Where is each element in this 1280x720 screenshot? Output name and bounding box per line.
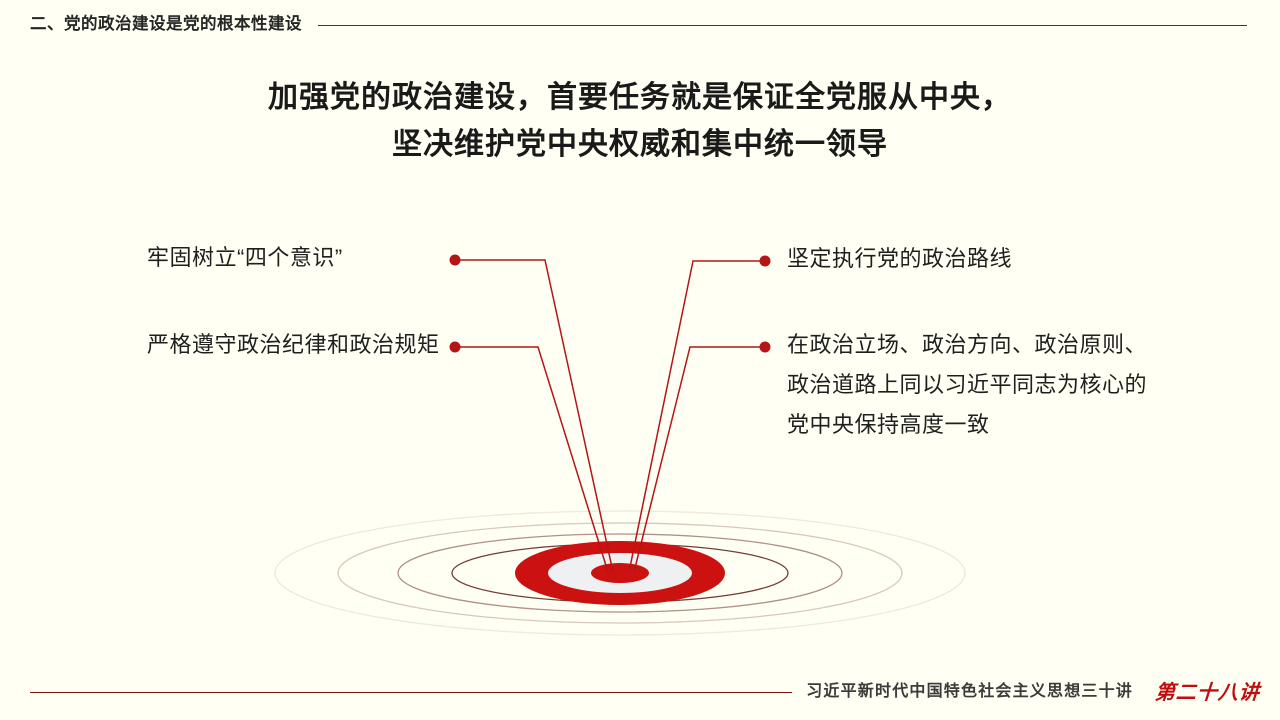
slide-root: 二、党的政治建设是党的根本性建设 加强党的政治建设，首要任务就是保证全党服从中央… (0, 0, 1280, 720)
connector-lines (455, 260, 765, 572)
bullseye-target (515, 541, 725, 605)
slide-header: 二、党的政治建设是党的根本性建设 (30, 11, 1247, 37)
connector-left-2 (455, 347, 608, 572)
footer-book-title: 习近平新时代中国特色社会主义思想三十讲 (806, 684, 1133, 700)
bullet-dot-left-1 (450, 255, 461, 266)
bullet-dot-right-2 (760, 342, 771, 353)
page-title-line-1: 加强党的政治建设，首要任务就是保证全党服从中央， (0, 74, 1280, 121)
section-label: 二、党的政治建设是党的根本性建设 (30, 16, 302, 33)
ripple-ring-4 (275, 511, 965, 635)
footer-divider-line (30, 692, 792, 693)
ripple-ring-3 (338, 523, 902, 623)
bullseye-outer-ring (515, 541, 725, 605)
bullseye-inner-gap (548, 553, 692, 593)
connector-left-1 (455, 260, 613, 572)
bullseye-center-dot (591, 563, 649, 583)
callout-label-right-2: 在政治立场、政治方向、政治原则、政治道路上同以习近平同志为核心的党中央保持高度一… (787, 325, 1167, 445)
connector-right-2 (634, 347, 765, 572)
ripple-ring-2 (398, 534, 842, 612)
ripple-ring-1 (452, 544, 788, 602)
slide-footer: 习近平新时代中国特色社会主义思想三十讲 第二十八讲 (30, 677, 1280, 707)
callout-label-left-2: 严格遵守政治纪律和政治规矩 (147, 325, 447, 365)
header-divider-line (318, 25, 1247, 26)
footer-lecture-number: 第二十八讲 (1154, 682, 1260, 702)
page-title-line-2: 坚决维护党中央权威和集中统一领导 (0, 121, 1280, 168)
page-title: 加强党的政治建设，首要任务就是保证全党服从中央， 坚决维护党中央权威和集中统一领… (0, 74, 1280, 168)
bullet-dot-left-2 (450, 342, 461, 353)
callout-label-left-1: 牢固树立“四个意识” (147, 238, 447, 278)
callout-label-right-1: 坚定执行党的政治路线 (787, 239, 1177, 279)
connector-right-1 (629, 261, 765, 572)
ripple-rings (275, 511, 965, 635)
connector-dots (450, 255, 771, 353)
bullet-dot-right-1 (760, 256, 771, 267)
